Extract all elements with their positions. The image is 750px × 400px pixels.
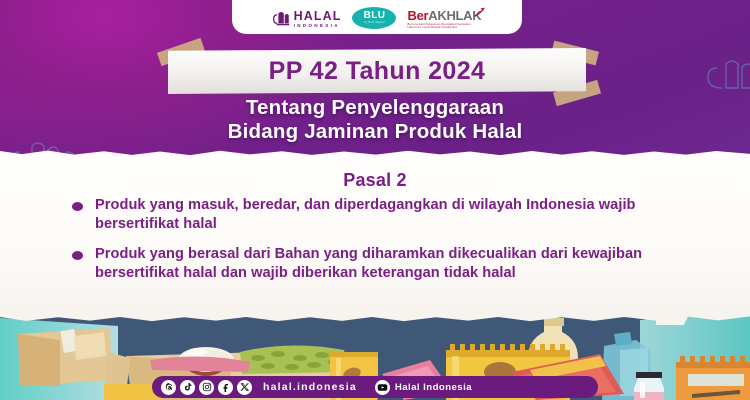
halal-mark-icon (273, 10, 290, 29)
halal-logo-subtext: INDONESIA (294, 24, 342, 29)
halal-logo-wordmark: HALAL (294, 10, 342, 23)
instagram-icon[interactable] (199, 380, 214, 395)
bullet-list: Produk yang masuk, beredar, dan diperdag… (72, 196, 702, 294)
blu-logo: BLU by BCA Digital (352, 7, 396, 29)
halal-indonesia-logo: HALAL INDONESIA (273, 10, 342, 29)
berakhlak-wordmark: BerAKHLAK (407, 9, 481, 22)
list-item: Produk yang masuk, beredar, dan diperdag… (72, 196, 702, 234)
berakhlak-logo: BerAKHLAK Berorientasi Pelayanan Akuntab… (407, 9, 481, 29)
berakhlak-subtitle-2: Harmonis Loyal Adaptif Kolaboratif (407, 26, 481, 29)
banner-subtitle-line-2: Bidang Jaminan Produk Halal (0, 120, 750, 144)
title-banner: PP 42 Tahun 2024 (168, 48, 586, 94)
bullet-text: Produk yang masuk, beredar, dan diperdag… (95, 196, 702, 234)
footer-social-bar: halal.indonesia Halal Indonesia (152, 376, 598, 398)
youtube-icon[interactable] (375, 380, 390, 395)
facebook-icon[interactable] (218, 380, 233, 395)
social-handle: halal.indonesia (263, 381, 357, 393)
tiktok-icon[interactable] (180, 380, 195, 395)
blu-logo-wordmark: BLU (364, 11, 386, 21)
banner-title: PP 42 Tahun 2024 (168, 48, 586, 94)
berakhlak-swoosh-icon (474, 5, 486, 15)
bullet-text: Produk yang berasal dari Bahan yang diha… (95, 245, 702, 283)
section-heading: Pasal 2 (0, 170, 750, 191)
bullet-dot-icon (72, 202, 83, 211)
blu-logo-subtext: by BCA Digital (364, 22, 385, 25)
banner-subtitle-line-1: Tentang Penyelenggaraan (0, 96, 750, 120)
header-logo-bar: HALAL INDONESIA BLU by BCA Digital BerAK… (232, 0, 522, 34)
x-twitter-icon[interactable] (237, 380, 252, 395)
banner-subtitle: Tentang Penyelenggaraan Bidang Jaminan P… (0, 96, 750, 144)
threads-icon[interactable] (161, 380, 176, 395)
bullet-dot-icon (72, 251, 83, 260)
infographic-poster: HALAL INDONESIA BLU by BCA Digital BerAK… (0, 0, 750, 400)
list-item: Produk yang berasal dari Bahan yang diha… (72, 245, 702, 283)
youtube-channel-group[interactable]: Halal Indonesia (375, 380, 472, 395)
youtube-channel-name: Halal Indonesia (395, 382, 472, 393)
